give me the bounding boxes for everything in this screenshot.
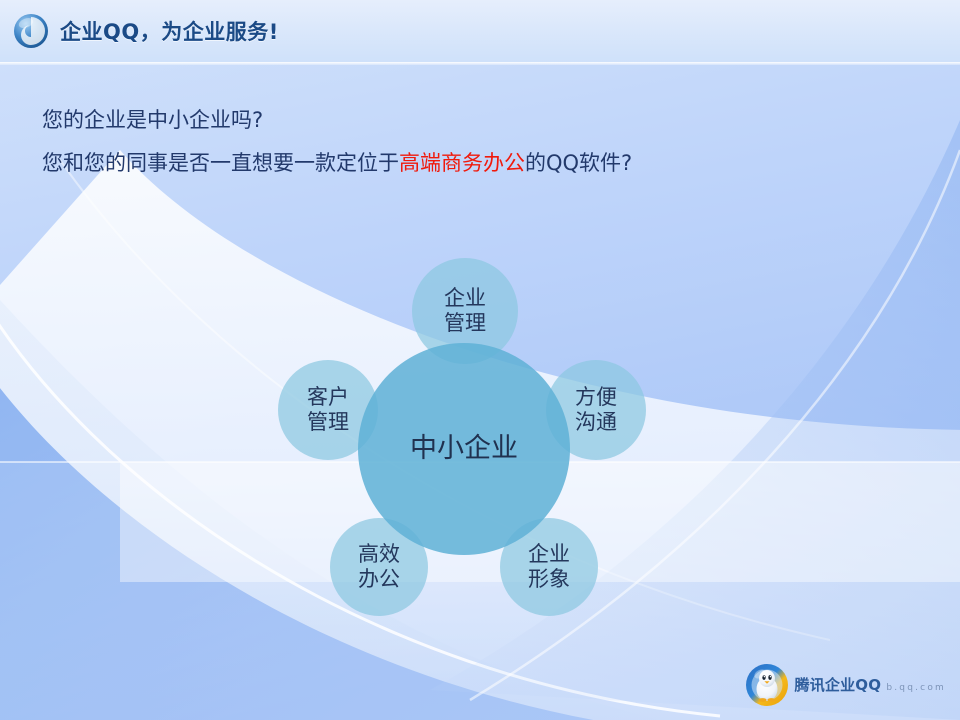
headline-highlight: 高端商务办公 — [399, 151, 525, 175]
footer-site-url: b.qq.com — [886, 683, 946, 693]
headline-positioning-line: 您和您的同事是否一直想要一款定位于高端商务办公的QQ软件? — [42, 153, 632, 174]
bubble-convenient-communication-line2: 沟通 — [575, 410, 617, 435]
bubble-customer-management-line2: 管理 — [307, 410, 349, 435]
qq-penguin-icon — [744, 662, 790, 708]
bubble-efficient-office-line2: 办公 — [358, 567, 400, 592]
footer-brand-name: 腾讯企业QQ — [795, 676, 882, 694]
header-bar: 企业QQ，为企业服务! — [0, 0, 960, 62]
bubble-efficient-office-line1: 高效 — [358, 542, 400, 567]
header-title: 企业QQ，为企业服务! — [60, 16, 279, 46]
bubble-core-sme[interactable]: 中小企业 — [358, 343, 570, 555]
bubble-enterprise-image-line2: 形象 — [528, 567, 570, 592]
headline-question-line: 您的企业是中小企业吗? — [42, 110, 632, 131]
bubble-core-sme-label: 中小企业 — [410, 433, 518, 465]
bubble-convenient-communication-line1: 方便 — [575, 385, 617, 410]
blue-swirl-globe-icon — [12, 12, 50, 50]
header-divider — [0, 62, 960, 65]
slide-canvas: 企业QQ，为企业服务! 您的企业是中小企业吗? 您和您的同事是否一直想要一款定位… — [0, 0, 960, 720]
bubble-customer-management-line1: 客户 — [307, 385, 349, 410]
footer-brand-logo: 腾讯企业QQ b.qq.com — [744, 662, 947, 708]
bubble-enterprise-image-line1: 企业 — [528, 542, 570, 567]
bubble-diagram: 客户 管理 企业 管理 方便 沟通 高效 办公 企业 形象 中小企业 — [230, 240, 700, 630]
headline-copy-block: 您的企业是中小企业吗? 您和您的同事是否一直想要一款定位于高端商务办公的QQ软件… — [42, 110, 632, 174]
headline-segment-after: 的QQ软件? — [525, 151, 632, 175]
bubble-enterprise-management-line2: 管理 — [444, 311, 486, 336]
headline-segment-before: 您和您的同事是否一直想要一款定位于 — [42, 151, 399, 175]
bubble-enterprise-management-line1: 企业 — [444, 286, 486, 311]
footer-text-block: 腾讯企业QQ b.qq.com — [795, 677, 947, 693]
